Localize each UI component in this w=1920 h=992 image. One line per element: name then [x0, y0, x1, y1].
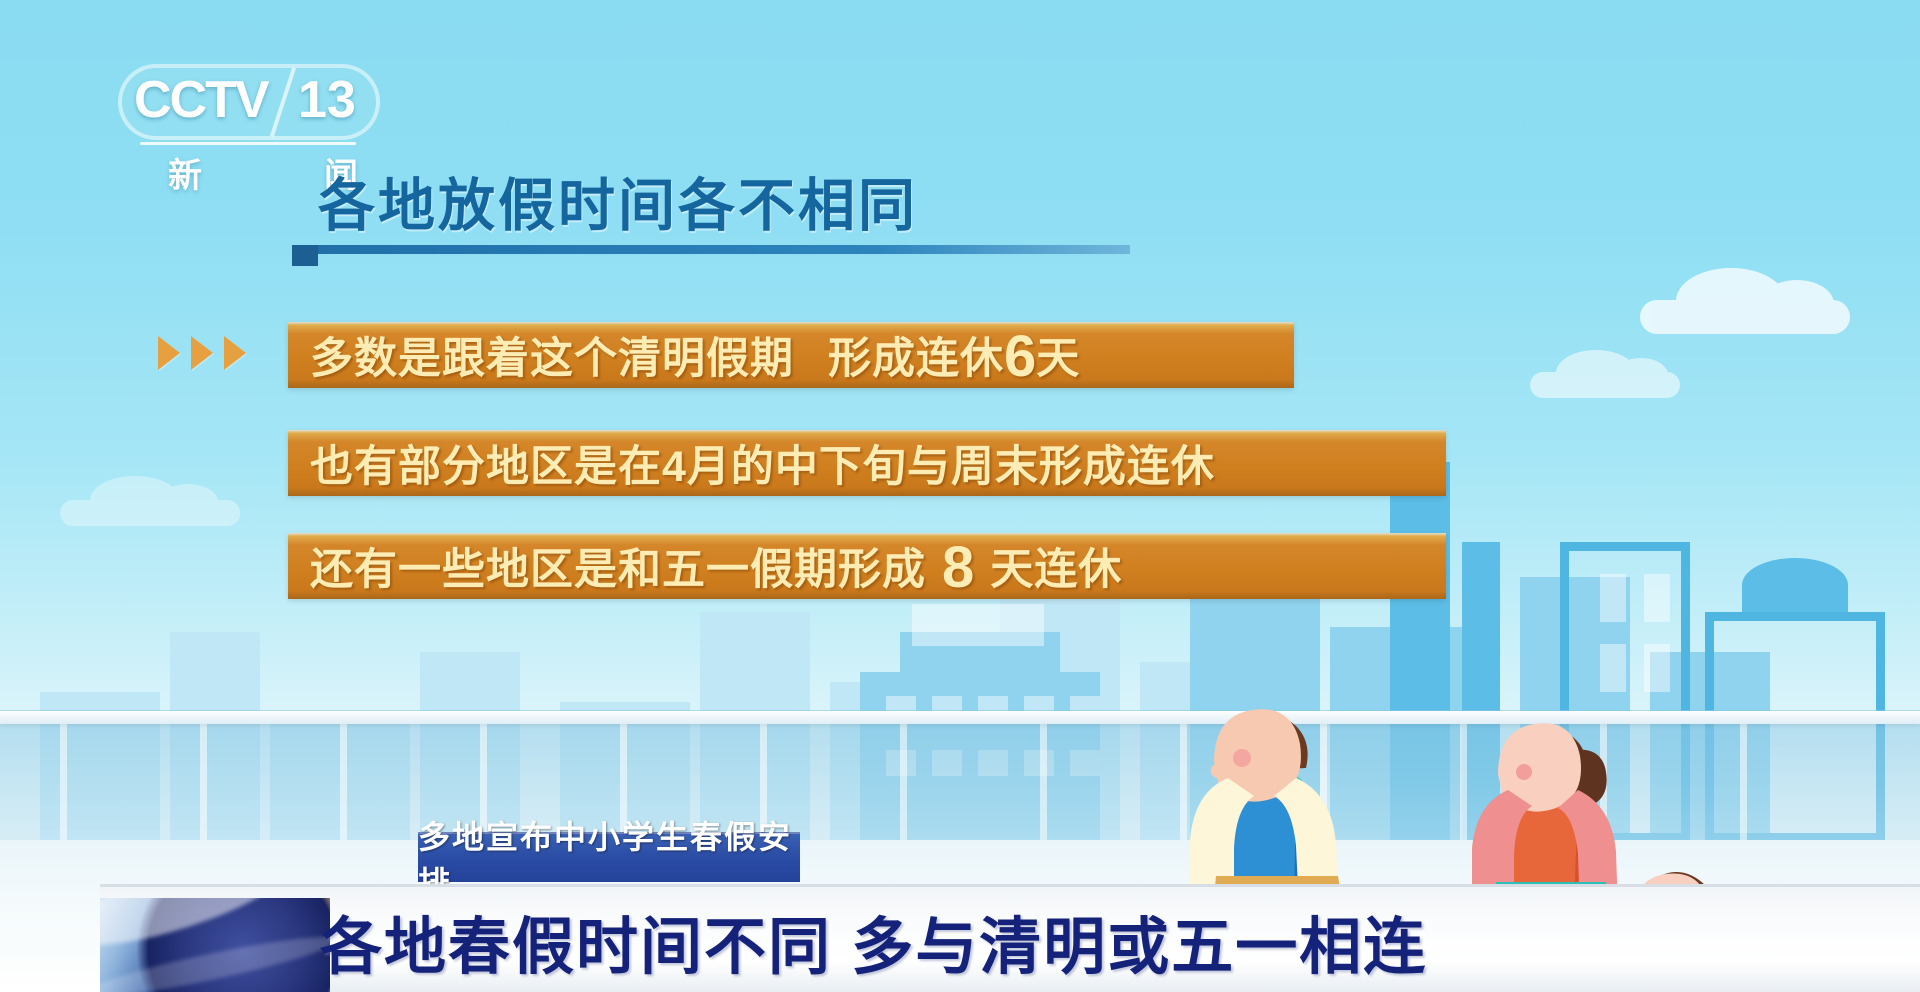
bullet-row: 多数是跟着这个清明假期 形成连休 6 天 — [288, 322, 1294, 388]
title-underline-cap — [292, 245, 318, 266]
logo-cn-char-1: 新 — [168, 148, 202, 197]
lower-third-strap: 多地宣布中小学生春假安排 — [418, 832, 800, 882]
bullet-row-text: 多数是跟着这个清明假期 — [310, 324, 794, 386]
bullet-row-text: 还有一些地区是和五一假期形成 — [310, 535, 926, 597]
title-underline-bar — [292, 245, 1130, 254]
lower-third-headline: 各地春假时间不同 多与清明或五一相连 — [320, 896, 1427, 986]
bullet-arrows-group — [158, 336, 246, 370]
triangle-right-icon — [191, 336, 213, 370]
logo-underline — [140, 142, 356, 145]
triangle-right-icon — [224, 336, 246, 370]
broadcast-frame: CCTV 13 新 闻 各地放假时间各不相同 多数是跟着这个清明假期 形成连休 … — [0, 0, 1920, 992]
news-globe-graphic — [100, 898, 330, 992]
bullet-row-text-mid: 形成连休 — [828, 324, 1004, 386]
cloud-icon — [1640, 300, 1850, 334]
logo-channel-number: 13 — [298, 72, 356, 128]
bullet-row-text: 也有部分地区是在4月的中下旬与周末形成连休 — [310, 432, 1215, 494]
page-title: 各地放假时间各不相同 — [318, 160, 918, 242]
bullet-row-text-after: 天连休 — [990, 535, 1122, 597]
triangle-right-icon — [158, 336, 180, 370]
bullet-row-emphasis: 6 — [1004, 331, 1036, 383]
bullet-row-emphasis: 8 — [942, 542, 974, 594]
bullet-row-text-after: 天 — [1036, 324, 1080, 386]
bullet-row: 也有部分地区是在4月的中下旬与周末形成连休 — [288, 430, 1446, 496]
logo-cctv-text: CCTV — [134, 72, 268, 128]
bullet-row: 还有一些地区是和五一假期形成 8 天连休 — [288, 533, 1446, 599]
